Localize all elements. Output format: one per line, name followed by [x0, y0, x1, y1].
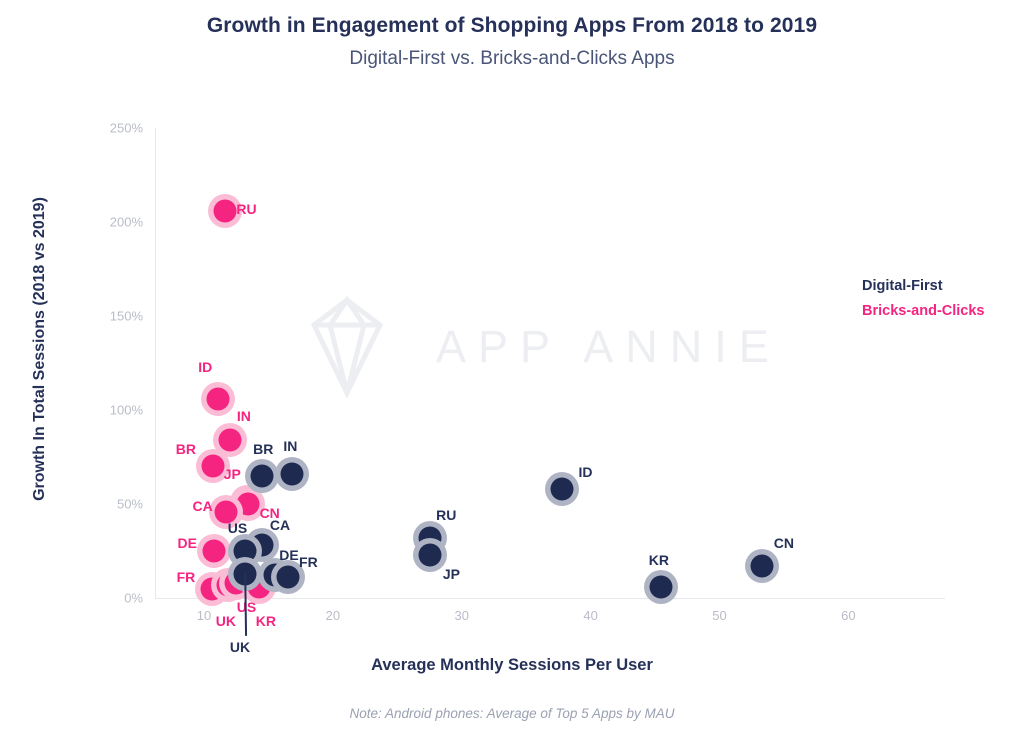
point-core [418, 543, 441, 566]
point-core [213, 199, 236, 222]
data-point-label-pink-kr: KR [256, 613, 276, 629]
data-point-label-pink-ca: CA [193, 498, 213, 514]
uk-leader-line [0, 0, 1024, 730]
watermark-text: APP ANNIE [436, 321, 781, 373]
page-subtitle: Digital-First vs. Bricks-and-Clicks Apps [0, 48, 1024, 70]
data-point-label-navy-us: US [228, 520, 247, 536]
point-core [551, 477, 574, 500]
data-point-navy-jp[interactable] [413, 538, 447, 572]
data-point-label-pink-id: ID [198, 359, 212, 375]
watermark: APP ANNIE [292, 292, 802, 402]
data-point-label-navy-jp: JP [443, 566, 460, 582]
diamond-icon [292, 295, 402, 400]
data-point-navy-kr[interactable] [644, 570, 678, 604]
x-tick-label: 40 [583, 608, 597, 623]
data-point-pink-id[interactable] [201, 382, 235, 416]
y-tick-label: 0% [83, 591, 143, 606]
data-point-label-navy-cn: CN [774, 535, 794, 551]
x-tick-label: 10 [197, 608, 211, 623]
data-point-label-pink-de: DE [177, 535, 196, 551]
data-point-label-navy-ru: RU [436, 507, 456, 523]
x-tick-label: 30 [454, 608, 468, 623]
data-point-label-navy-ca: CA [270, 517, 290, 533]
point-core [203, 540, 226, 563]
point-core [250, 464, 273, 487]
point-core [201, 455, 224, 478]
point-core [218, 429, 241, 452]
data-point-navy-id[interactable] [545, 472, 579, 506]
x-tick-label: 20 [326, 608, 340, 623]
chart-note: Note: Android phones: Average of Top 5 A… [0, 706, 1024, 721]
point-core [207, 387, 230, 410]
y-tick-label: 200% [83, 215, 143, 230]
legend-item-digital-first[interactable]: Digital-First [862, 278, 985, 294]
data-point-label-navy-br: BR [253, 441, 273, 457]
x-axis-line [155, 598, 945, 599]
data-point-navy-cn[interactable] [745, 549, 779, 583]
data-point-label-pink-fr: FR [177, 569, 196, 585]
chart-figure: Growth in Engagement of Shopping Apps Fr… [0, 0, 1024, 730]
data-point-navy-in[interactable] [275, 457, 309, 491]
y-tick-label: 50% [83, 497, 143, 512]
y-axis-line [155, 128, 156, 598]
point-core [650, 575, 673, 598]
data-point-navy-uk[interactable] [228, 557, 262, 591]
x-axis-title: Average Monthly Sessions Per User [0, 656, 1024, 675]
data-point-label-navy-uk: UK [230, 639, 250, 655]
point-core [234, 562, 257, 585]
data-point-label-navy-in: IN [283, 438, 297, 454]
data-point-label-navy-fr: FR [299, 554, 318, 570]
data-point-label-pink-br: BR [176, 441, 196, 457]
data-point-pink-de[interactable] [197, 534, 231, 568]
y-tick-label: 150% [83, 309, 143, 324]
y-tick-label: 250% [83, 121, 143, 136]
data-point-label-pink-jp: JP [224, 466, 241, 482]
data-point-label-navy-kr: KR [649, 552, 669, 568]
data-point-label-navy-id: ID [578, 464, 592, 480]
page-title: Growth in Engagement of Shopping Apps Fr… [0, 14, 1024, 38]
point-core [750, 555, 773, 578]
data-point-label-pink-in: IN [237, 408, 251, 424]
x-tick-label: 50 [712, 608, 726, 623]
point-core [276, 566, 299, 589]
data-point-label-pink-ru: RU [236, 201, 256, 217]
y-tick-label: 100% [83, 403, 143, 418]
data-point-label-pink-uk: UK [216, 613, 236, 629]
x-tick-label: 60 [841, 608, 855, 623]
y-axis-title: Growth In Total Sessions (2018 vs 2019) [31, 129, 49, 569]
legend: Digital-First Bricks-and-Clicks [862, 278, 985, 328]
legend-item-bricks-and-clicks[interactable]: Bricks-and-Clicks [862, 303, 985, 319]
point-core [280, 462, 303, 485]
